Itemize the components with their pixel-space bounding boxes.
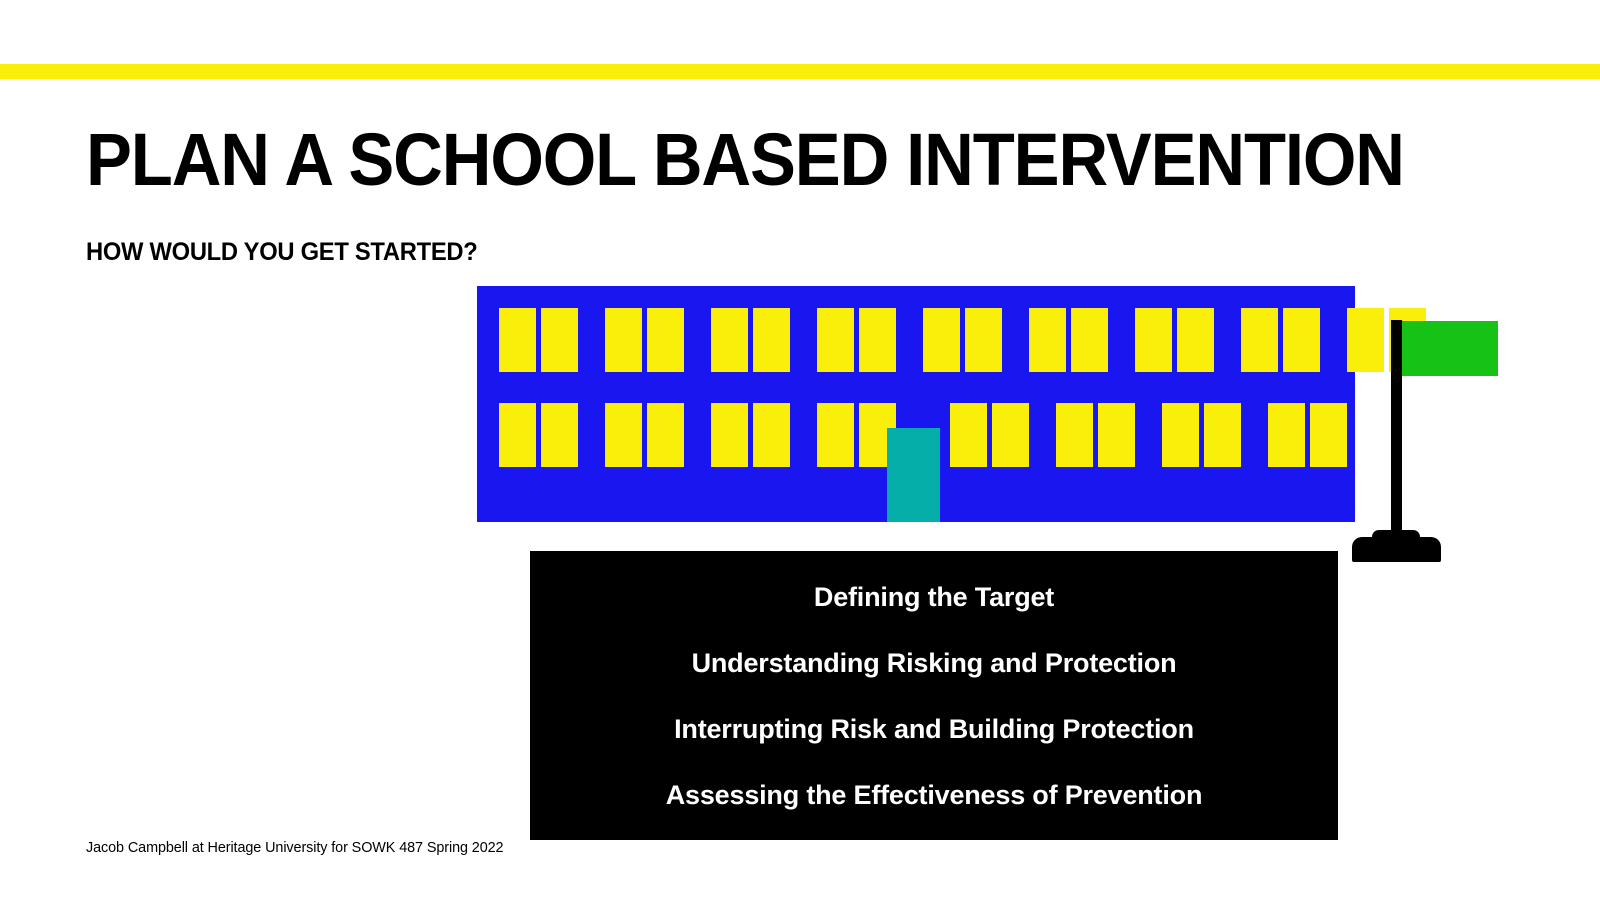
window-row-top	[499, 308, 1426, 372]
window-pane	[1162, 403, 1199, 467]
window-pane	[541, 308, 578, 372]
window-pane	[753, 308, 790, 372]
flag-base	[1352, 537, 1441, 562]
footer-credit: Jacob Campbell at Heritage University fo…	[86, 838, 503, 858]
window-pane	[1204, 403, 1241, 467]
window-pane	[605, 403, 642, 467]
panel-line-2: Understanding Risking and Protection	[692, 630, 1177, 696]
window-pair	[817, 308, 896, 372]
page-title: PLAN A SCHOOL BASED INTERVENTION	[86, 118, 1425, 202]
top-accent-bar	[0, 64, 1600, 79]
window-pair	[605, 308, 684, 372]
window-pane	[1310, 403, 1347, 467]
window-pair	[1162, 403, 1241, 467]
content-panel: Defining the Target Understanding Riskin…	[530, 551, 1338, 840]
window-pair	[817, 403, 896, 467]
window-pair	[1056, 403, 1135, 467]
window-pair	[1241, 308, 1320, 372]
window-pane	[711, 308, 748, 372]
window-pane	[859, 403, 896, 467]
window-pair	[499, 403, 578, 467]
window-pane	[605, 308, 642, 372]
window-pane	[950, 403, 987, 467]
window-pair	[711, 403, 790, 467]
green-flag-icon	[1402, 321, 1498, 376]
school-door-shape	[887, 428, 940, 522]
window-pair	[1029, 308, 1108, 372]
window-pane	[499, 308, 536, 372]
window-pair	[950, 403, 1029, 467]
window-pane	[711, 403, 748, 467]
window-pane	[1098, 403, 1135, 467]
window-pair	[711, 308, 790, 372]
window-pane	[923, 308, 960, 372]
window-pane	[1029, 308, 1066, 372]
window-pair	[605, 403, 684, 467]
flag-base-top	[1372, 530, 1420, 544]
window-pane	[817, 403, 854, 467]
window-pane	[1177, 308, 1214, 372]
window-row-bottom	[499, 403, 1347, 467]
window-pane	[1056, 403, 1093, 467]
school-building-shape	[477, 286, 1355, 522]
panel-line-4: Assessing the Effectiveness of Preventio…	[666, 762, 1202, 828]
window-pane	[753, 403, 790, 467]
flag-pole	[1391, 320, 1402, 548]
window-pair	[923, 308, 1002, 372]
window-pair	[1135, 308, 1214, 372]
panel-line-3: Interrupting Risk and Building Protectio…	[674, 696, 1194, 762]
window-pair	[1347, 308, 1426, 372]
window-pane	[992, 403, 1029, 467]
slide-canvas: PLAN A SCHOOL BASED INTERVENTION HOW WOU…	[0, 0, 1600, 900]
window-pane	[1283, 308, 1320, 372]
window-pane	[1389, 308, 1426, 372]
panel-line-1: Defining the Target	[814, 564, 1054, 630]
window-pair	[499, 308, 578, 372]
window-pane	[541, 403, 578, 467]
page-subtitle: HOW WOULD YOU GET STARTED?	[86, 236, 477, 268]
window-pane	[499, 403, 536, 467]
window-pane	[647, 403, 684, 467]
window-pane	[1268, 403, 1305, 467]
window-pane	[1241, 308, 1278, 372]
window-pane	[817, 308, 854, 372]
window-pane	[647, 308, 684, 372]
window-pane	[965, 308, 1002, 372]
window-pane	[1347, 308, 1384, 372]
window-pair	[1268, 403, 1347, 467]
window-pane	[1071, 308, 1108, 372]
window-pane	[1135, 308, 1172, 372]
window-pane	[859, 308, 896, 372]
